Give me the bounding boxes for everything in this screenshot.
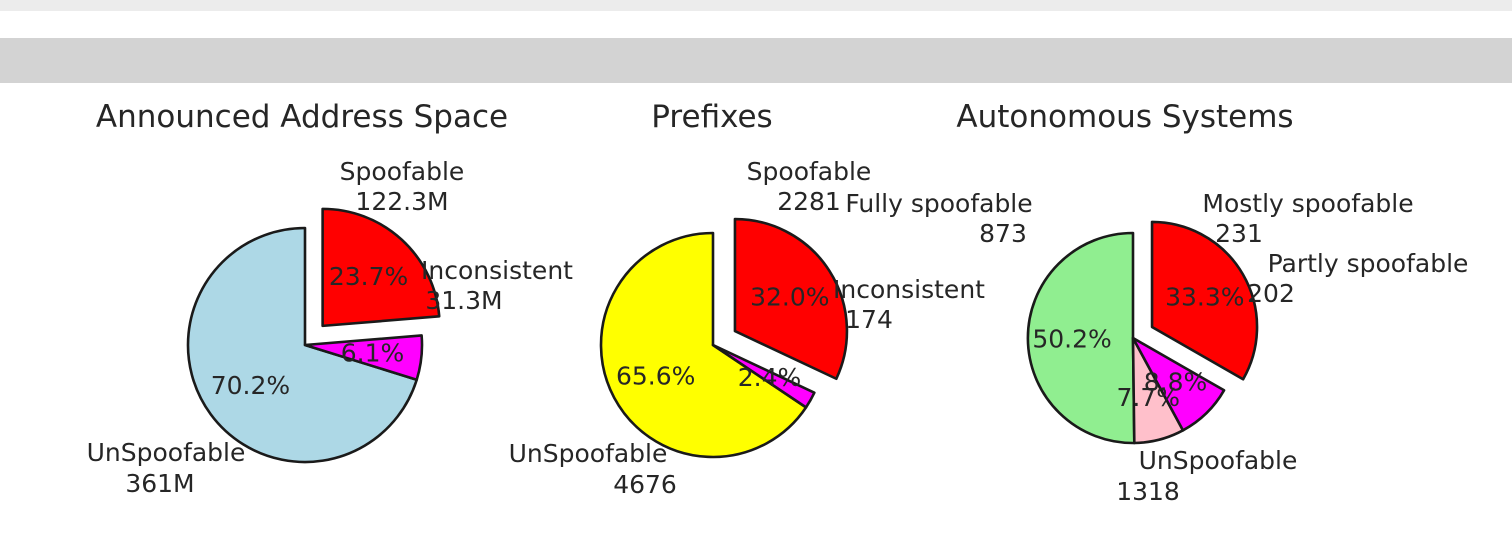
chart-2-percent-spoofable: 32.0% bbox=[750, 282, 829, 311]
chart-2-percent-unspoofable: 65.6% bbox=[616, 362, 695, 391]
chart-3-value-fully: 873 bbox=[979, 219, 1027, 248]
chart-3-title: Autonomous Systems bbox=[956, 99, 1293, 135]
chart-2-label-inconsistent: Inconsistent bbox=[833, 275, 985, 304]
chart-3-label-fully: Fully spoofable bbox=[845, 189, 1032, 218]
pie-chart-2: Prefixes 32.0% 2.4% 65.6% Spoofable 2281… bbox=[509, 99, 986, 499]
chart-2-value-spoofable: 2281 bbox=[777, 187, 841, 216]
chart-3-value-unspoofable: 1318 bbox=[1116, 477, 1180, 506]
chart-2-value-inconsistent: 174 bbox=[845, 305, 893, 334]
chart-1-percent-spoofable: 23.7% bbox=[329, 262, 408, 291]
chart-3-label-mostly: Mostly spoofable bbox=[1202, 189, 1413, 218]
chart-1-label-inconsistent: Inconsistent bbox=[421, 256, 573, 285]
pie-chart-figure: Announced Address Space 23.7% 6.1% 70.2%… bbox=[0, 83, 1512, 556]
chart-1-percent-inconsistent: 6.1% bbox=[341, 338, 405, 367]
window-toolbar-band bbox=[0, 38, 1512, 83]
window-top-strip bbox=[0, 0, 1512, 11]
chart-1-value-inconsistent: 31.3M bbox=[425, 286, 502, 315]
chart-2-slices bbox=[601, 219, 847, 457]
chart-1-slices bbox=[188, 209, 439, 462]
chart-2-value-unspoofable: 4676 bbox=[613, 470, 677, 499]
chart-1-title: Announced Address Space bbox=[96, 99, 508, 135]
chart-1-value-spoofable: 122.3M bbox=[355, 187, 448, 216]
chart-3-value-partly: 202 bbox=[1247, 279, 1295, 308]
chart-3-label-unspoofable: UnSpoofable bbox=[1139, 446, 1298, 475]
pie-chart-1: Announced Address Space 23.7% 6.1% 70.2%… bbox=[87, 99, 574, 498]
chart-2-percent-inconsistent: 2.4% bbox=[738, 363, 802, 392]
chart-3-percent-partly: 7.7% bbox=[1117, 383, 1181, 412]
chart-3-percent-fully: 33.3% bbox=[1165, 283, 1244, 312]
chart-1-value-unspoofable: 361M bbox=[125, 469, 194, 498]
chart-3-percent-unspoofable: 50.2% bbox=[1032, 324, 1111, 353]
chart-1-percent-unspoofable: 70.2% bbox=[211, 371, 290, 400]
chart-3-label-partly: Partly spoofable bbox=[1268, 249, 1469, 278]
chart-1-label-spoofable: Spoofable bbox=[340, 157, 465, 186]
window-white-gap bbox=[0, 11, 1512, 38]
chart-2-label-unspoofable: UnSpoofable bbox=[509, 439, 668, 468]
chart-2-label-spoofable: Spoofable bbox=[747, 157, 872, 186]
figure-canvas: Announced Address Space 23.7% 6.1% 70.2%… bbox=[0, 83, 1512, 556]
chart-2-title: Prefixes bbox=[651, 99, 772, 135]
chart-3-value-mostly: 231 bbox=[1215, 219, 1263, 248]
chart-1-label-unspoofable: UnSpoofable bbox=[87, 438, 246, 467]
